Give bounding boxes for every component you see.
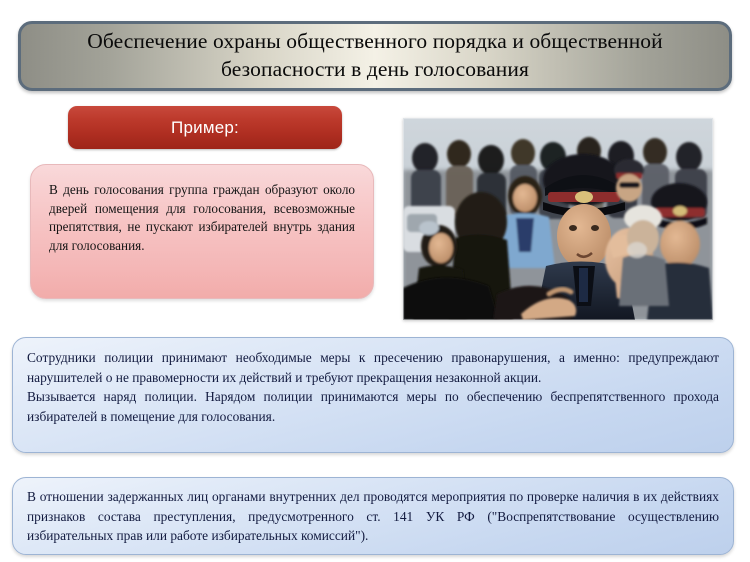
page-title: Обеспечение охраны общественного порядка…	[21, 28, 729, 83]
police-measures-box: Сотрудники полиции принимают необходимые…	[12, 337, 734, 453]
crowd-police-photo-image	[403, 118, 713, 320]
detained-persons-box: В отношении задержанных лиц органами вну…	[12, 477, 734, 555]
slide-title-banner: Обеспечение охраны общественного порядка…	[18, 21, 732, 91]
example-button-label: Пример:	[171, 118, 239, 138]
example-text-box: В день голосования группа граждан образу…	[30, 164, 374, 299]
crowd-police-photo	[403, 118, 713, 320]
police-measures-paragraph-1: Сотрудники полиции принимают необходимые…	[27, 348, 719, 387]
police-measures-paragraph-2: Вызывается наряд полиции. Нарядом полици…	[27, 387, 719, 426]
detained-persons-paragraph-1: В отношении задержанных лиц органами вну…	[27, 487, 719, 546]
example-text: В день голосования группа граждан образу…	[49, 181, 355, 256]
example-label-button[interactable]: Пример:	[68, 106, 342, 149]
detained-persons-text: В отношении задержанных лиц органами вну…	[27, 487, 719, 546]
police-measures-text: Сотрудники полиции принимают необходимые…	[27, 348, 719, 426]
